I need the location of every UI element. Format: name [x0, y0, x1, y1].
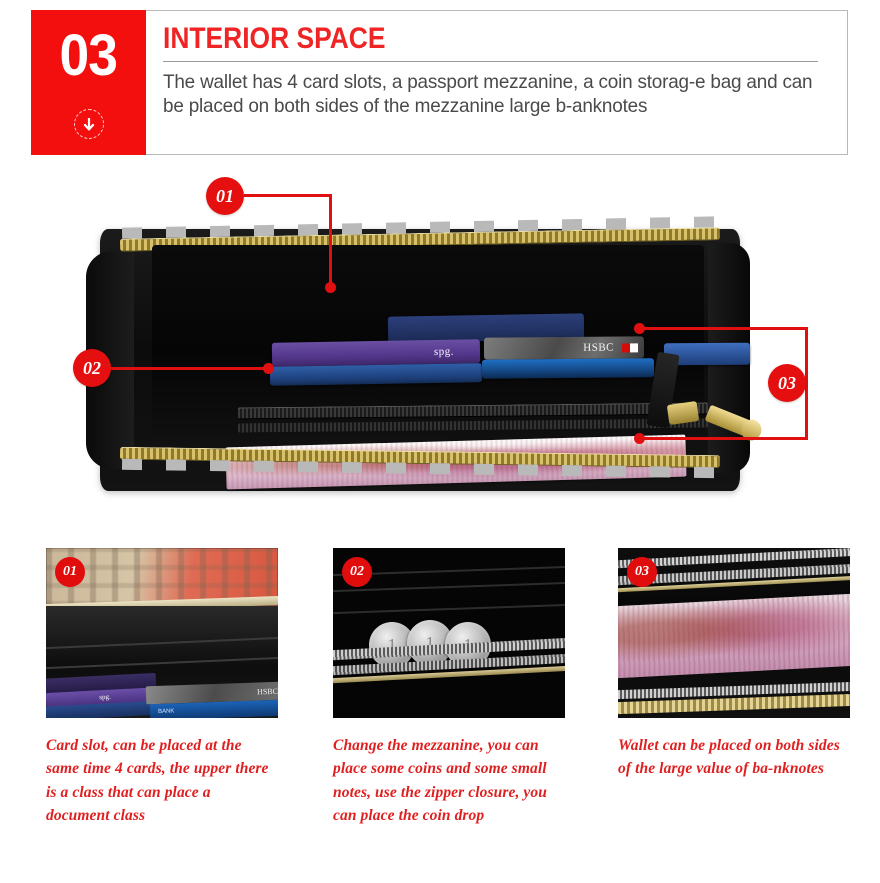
callout-marker-02[interactable]: 02	[73, 349, 111, 387]
callout-dot-03-lower	[634, 433, 645, 444]
hsbc-logo-icon	[622, 343, 638, 352]
panel-badge-03: 03	[627, 557, 657, 587]
panel-banknotes	[618, 593, 850, 679]
callout-marker-label: 03	[778, 373, 796, 394]
panel-card-brand-label: HSBC	[257, 686, 278, 696]
wallet-cavity: spg. HSBC BANK OF CHINA	[152, 245, 704, 441]
card-brand-label: spg.	[434, 345, 480, 358]
panel-caption-03: Wallet can be placed on both sides of th…	[618, 734, 850, 781]
header-description: The wallet has 4 card slots, a passport …	[163, 70, 813, 120]
panel-wallet-interior: spg. HSBC BANK	[46, 606, 278, 718]
leader-line-02	[110, 367, 270, 370]
hero-product-photo: spg. HSBC BANK OF CHINA	[0, 163, 880, 533]
leader-line-03-lower	[640, 437, 808, 440]
detail-panel-02: 02 Change the mezzanine, you can place s…	[333, 548, 565, 827]
callout-dot-03-upper	[634, 323, 645, 334]
down-arrow-icon	[74, 109, 104, 139]
card-blue-lower-left	[270, 363, 482, 386]
header-divider	[163, 61, 818, 62]
leader-line-01-vertical	[329, 194, 332, 287]
callout-dot-01	[325, 282, 336, 293]
panel-badge-02: 02	[342, 557, 372, 587]
panel-image-coin-pocket: 02	[333, 548, 565, 718]
card-hsbc: HSBC	[484, 336, 644, 359]
panel-card-brand-label: spg.	[99, 693, 111, 702]
coin-pocket-zipper-lower	[238, 419, 708, 433]
panel-badge-01: 01	[55, 557, 85, 587]
zipper-slider-icon	[667, 401, 699, 425]
detail-panel-01: spg. HSBC BANK 01 Card slot, can be pl	[46, 548, 278, 827]
panel-image-banknotes: 03	[618, 548, 850, 718]
card-spg: spg.	[272, 339, 480, 367]
panel-badge-label: 01	[63, 564, 77, 580]
panel-badge-label: 03	[635, 564, 649, 580]
detail-panel-03: 03 Wallet can be placed on both sides of…	[618, 548, 850, 781]
panel-image-card-slots: spg. HSBC BANK 01	[46, 548, 278, 718]
page-title: INTERIOR SPACE	[163, 23, 753, 55]
callout-marker-01[interactable]: 01	[206, 177, 244, 215]
callout-dot-02	[263, 363, 274, 374]
callout-marker-label: 02	[83, 358, 101, 379]
panel-seam	[46, 637, 278, 650]
panel-badge-label: 02	[350, 564, 364, 580]
callout-marker-03[interactable]: 03	[768, 364, 806, 402]
section-header: 03 INTERIOR SPACE The wallet has 4 card …	[31, 10, 848, 155]
callout-marker-label: 01	[216, 186, 234, 207]
section-number: 03	[60, 27, 118, 85]
wallet-interior-image: spg. HSBC BANK OF CHINA	[100, 211, 740, 501]
product-infographic-page: 03 INTERIOR SPACE The wallet has 4 card …	[0, 0, 880, 883]
detail-panels: spg. HSBC BANK 01 Card slot, can be pl	[0, 548, 880, 883]
panel-seam	[46, 657, 278, 670]
leader-line-01-horizontal	[244, 194, 332, 197]
header-text-block: INTERIOR SPACE The wallet has 4 card slo…	[146, 11, 847, 154]
panel-caption-01: Card slot, can be placed at the same tim…	[46, 734, 278, 827]
card-blue-lower-right	[482, 358, 654, 379]
leader-line-03-upper	[640, 327, 808, 330]
section-number-badge: 03	[31, 10, 146, 155]
panel-card-bank-text: BANK	[150, 708, 175, 715]
coin-pocket-zipper	[238, 403, 708, 420]
card-brand-label: HSBC	[583, 341, 622, 353]
panel-caption-02: Change the mezzanine, you can place some…	[333, 734, 565, 827]
